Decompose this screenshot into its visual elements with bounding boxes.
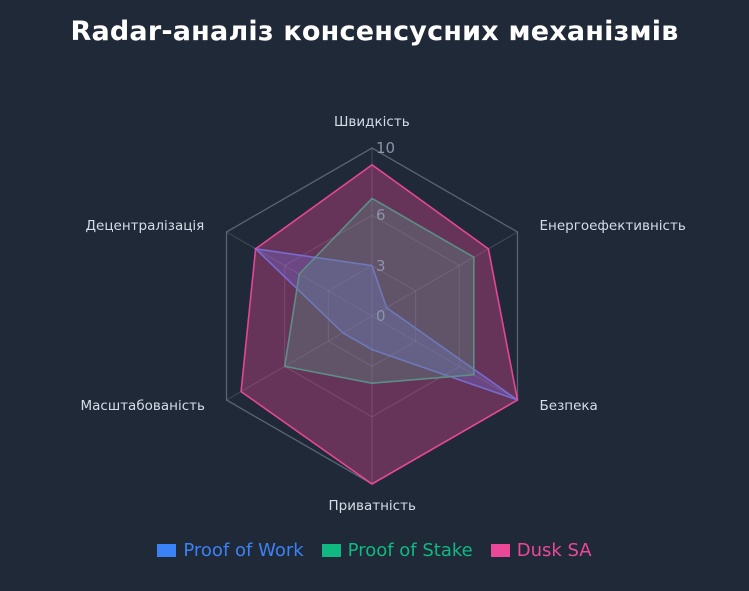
axis-label-3: Приватність [329, 498, 416, 514]
legend-swatch-icon [157, 544, 176, 557]
axis-label-2: Безпека [540, 398, 598, 414]
radar-chart-figure: Radar-аналіз консенсусних механізмів Шви… [0, 0, 749, 591]
legend-item-proof-of-work[interactable]: Proof of Work [157, 540, 303, 561]
axis-label-5: Децентралізація [86, 218, 205, 234]
axis-label-4: Масштабованість [81, 398, 205, 414]
legend-swatch-icon [322, 544, 341, 557]
legend-swatch-icon [491, 544, 510, 557]
axis-label-1: Енергоефективність [540, 218, 686, 234]
radial-tick-10: 10 [376, 139, 395, 157]
radial-tick-3: 3 [376, 257, 386, 275]
legend-item-proof-of-stake[interactable]: Proof of Stake [322, 540, 473, 561]
axis-label-0: Швидкість [334, 114, 410, 130]
chart-legend: Proof of WorkProof of StakeDusk SA [0, 540, 749, 561]
plot-area: ШвидкістьЕнергоефективністьБезпекаПриват… [0, 0, 749, 591]
legend-label: Proof of Work [183, 540, 303, 561]
radial-tick-0: 0 [376, 307, 386, 325]
radial-tick-6: 6 [376, 206, 386, 224]
legend-label: Dusk SA [517, 540, 592, 561]
legend-label: Proof of Stake [348, 540, 473, 561]
legend-item-dusk-sa[interactable]: Dusk SA [491, 540, 592, 561]
